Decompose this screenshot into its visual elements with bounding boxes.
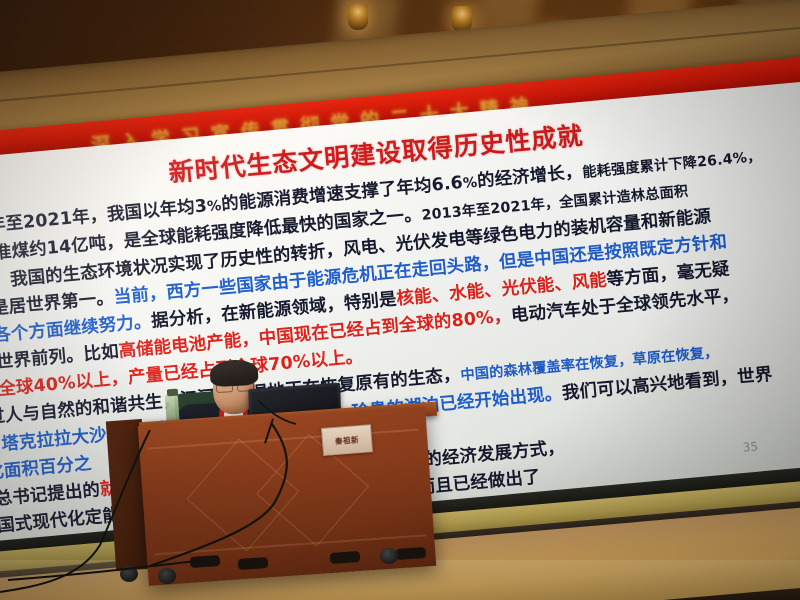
slide-page-number: 35 <box>742 439 758 454</box>
podium-foot <box>330 551 361 564</box>
water-bottle-cap <box>167 389 178 397</box>
podium-nameplate: 秦祖新 <box>321 424 373 456</box>
podium-nameplate-text: 秦祖新 <box>335 434 360 447</box>
stage-spotlight <box>348 4 368 30</box>
podium-foot <box>396 547 427 560</box>
photo-scene: 深入学习宣传贯彻党的二十大精神 新时代生态文明建设取得历史性成就 2012年至2… <box>0 0 800 600</box>
podium-caster <box>158 568 176 584</box>
podium-foot <box>238 557 269 570</box>
podium-caster <box>120 566 138 582</box>
slide-text-segment: 的经济增长， <box>476 162 583 191</box>
podium-caster <box>380 548 398 564</box>
podium-rail <box>147 429 418 449</box>
podium-foot <box>190 555 221 568</box>
